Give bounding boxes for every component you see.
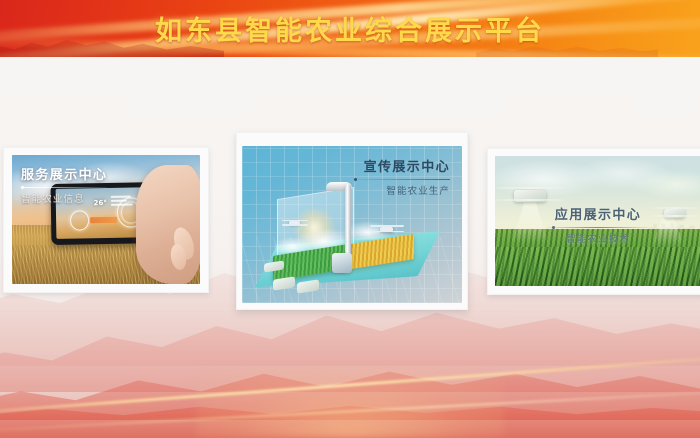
card-promotion-center[interactable]: 宣传展示中心 智能农业生产 (236, 132, 468, 310)
card-service-subtitle: 智能农业信息 (21, 191, 107, 205)
page-title: 如东县智能农业综合展示平台 (0, 0, 700, 57)
card-promotion-title: 宣传展示中心 (354, 156, 450, 175)
green-field-rows-fore (495, 247, 700, 286)
hud-ring-left-icon (71, 211, 90, 231)
drone-rotor-2 (282, 224, 308, 226)
hud-highlight-chip (90, 217, 118, 223)
card-application-subtitle: 智能农业技术 (495, 231, 700, 245)
card-service-title: 服务展示中心 (21, 164, 107, 183)
drone-rotor-2 (495, 199, 564, 201)
card-application-center[interactable]: 应用展示中心 智能农业技术 (487, 148, 700, 295)
drone-rotor-1 (370, 225, 404, 227)
drone-rotor-2 (370, 231, 404, 233)
card-service-text: 服务展示中心 智能农业信息 (21, 164, 107, 205)
card-application-rule (546, 227, 650, 228)
drone-right-icon (370, 221, 404, 237)
rule-dot-icon (354, 178, 357, 181)
card-application-title: 应用展示中心 (495, 204, 700, 223)
card-promotion-rule (354, 179, 450, 180)
card-promotion-text: 宣传展示中心 智能农业生产 (354, 156, 450, 197)
card-photo-service: 26° 服务展示中心 智能农业信息 (12, 155, 200, 284)
background-glow (196, 368, 504, 438)
drone-left-icon (282, 217, 308, 229)
card-application-text: 应用展示中心 智能农业技术 (495, 204, 700, 245)
rule-dot-icon (21, 186, 24, 189)
page-stage: 如东县智能农业综合展示平台 26° (0, 0, 700, 438)
irrigation-pipe (345, 184, 351, 256)
water-tank (332, 253, 352, 273)
card-photo-application: 应用展示中心 智能农业技术 (495, 156, 700, 286)
drone-rotor-1 (495, 187, 564, 189)
card-service-center[interactable]: 26° 服务展示中心 智能农业信息 (3, 147, 209, 293)
rule-dot-icon (552, 226, 555, 229)
header-banner: 如东县智能农业综合展示平台 (0, 0, 700, 57)
hand-illustration (136, 165, 200, 284)
card-photo-promotion: 宣传展示中心 智能农业生产 (242, 146, 462, 303)
card-promotion-subtitle: 智能农业生产 (354, 183, 450, 197)
card-service-rule (21, 187, 107, 188)
